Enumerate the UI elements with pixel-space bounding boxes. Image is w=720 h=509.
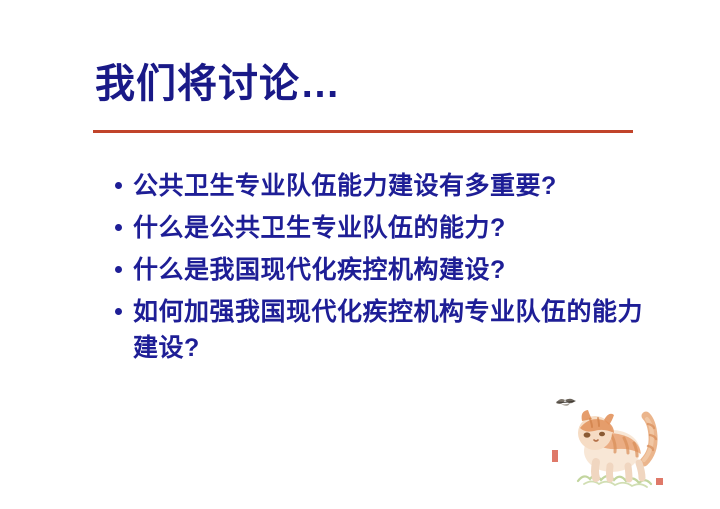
title-divider xyxy=(93,130,633,133)
bullet-dot-icon xyxy=(115,182,122,189)
list-item-label: 公共卫生专业队伍能力建设有多重要? xyxy=(133,168,643,204)
bullet-list: 公共卫生专业队伍能力建设有多重要? 什么是公共卫生专业队伍的能力? 什么是我国现… xyxy=(113,168,643,372)
slide-canvas: 我们将讨论… 公共卫生专业队伍能力建设有多重要? 什么是公共卫生专业队伍的能力?… xyxy=(0,0,720,509)
bullet-dot-icon xyxy=(115,224,122,231)
list-item: 公共卫生专业队伍能力建设有多重要? xyxy=(113,168,643,204)
list-item: 什么是我国现代化疾控机构建设? xyxy=(113,252,643,288)
list-item-label: 什么是我国现代化疾控机构建设? xyxy=(133,252,643,288)
decorative-artwork xyxy=(540,388,680,488)
list-item: 如何加强我国现代化疾控机构专业队伍的能力建设? xyxy=(113,294,643,366)
seal-stamp-left xyxy=(552,450,558,462)
list-item-label: 什么是公共卫生专业队伍的能力? xyxy=(133,210,643,246)
bullet-dot-icon xyxy=(115,266,122,273)
seal-stamp-right xyxy=(656,478,663,485)
list-item-label: 如何加强我国现代化疾控机构专业队伍的能力建设? xyxy=(133,294,643,366)
butterfly-icon xyxy=(553,396,579,410)
page-title: 我们将讨论… xyxy=(95,58,341,110)
list-item: 什么是公共卫生专业队伍的能力? xyxy=(113,210,643,246)
bullet-dot-icon xyxy=(115,308,122,315)
